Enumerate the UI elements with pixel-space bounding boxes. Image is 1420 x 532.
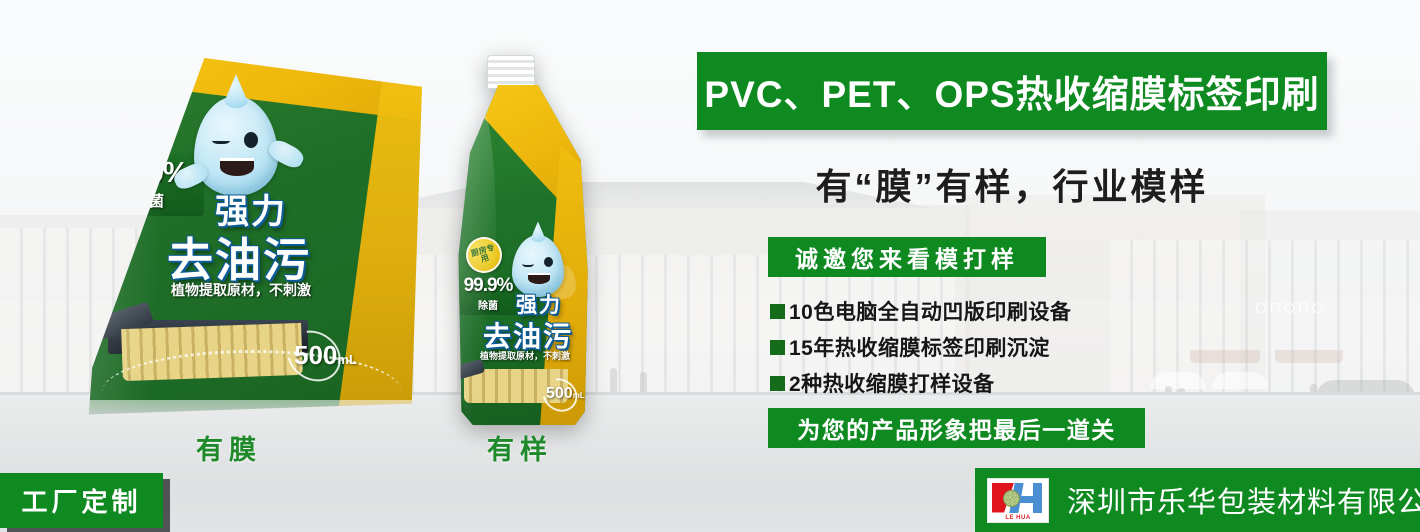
company-name: 深圳市乐华包装材料有限公司	[1067, 479, 1420, 521]
feature-list: 10色电脑全自动凹版印刷设备 15年热收缩膜标签印刷沉淀 2种热收缩膜打样设备	[770, 296, 1190, 404]
mascot-water-droplet	[194, 96, 278, 196]
logo-blue-crossbar	[1017, 496, 1041, 503]
bottle-gloss-highlight	[456, 105, 496, 425]
product-bottle: 厨房专用 99.9% 除菌 强力 去油污 植物提取原材，不刺激 500mL	[440, 55, 610, 425]
invite-banner: 诚邀您来看模打样	[768, 237, 1046, 277]
factory-custom-badge: 工厂定制	[0, 473, 163, 528]
headline-text: PVC、PET、OPS热收缩膜标签印刷	[704, 64, 1319, 118]
factory-custom-label: 工厂定制	[21, 482, 141, 519]
company-logo-icon: LE HUA	[987, 478, 1049, 523]
square-bullet-icon	[770, 376, 785, 391]
square-bullet-icon	[770, 340, 785, 355]
feature-label: 2种热收缩膜打样设备	[789, 368, 995, 398]
list-item: 10色电脑全自动凹版印刷设备	[770, 296, 1190, 326]
mascot-eye-wink	[212, 136, 230, 144]
mascot-eye-wink	[522, 259, 534, 267]
caption-bottle: 有样	[487, 428, 553, 467]
list-item: 2种热收缩膜打样设备	[770, 368, 1190, 398]
closing-banner: 为您的产品形象把最后一道关	[768, 408, 1145, 448]
list-item: 15年热收缩膜标签印刷沉淀	[770, 332, 1190, 362]
invite-text: 诚邀您来看模打样	[795, 240, 1019, 274]
mascot-eye	[244, 132, 258, 148]
square-bullet-icon	[770, 304, 785, 319]
bottle-body: 厨房专用 99.9% 除菌 强力 去油污 植物提取原材，不刺激 500mL	[450, 85, 592, 425]
logo-globe-icon	[1003, 490, 1020, 507]
headline-banner: PVC、PET、OPS热收缩膜标签印刷	[697, 52, 1327, 130]
closing-text: 为您的产品形象把最后一道关	[797, 411, 1116, 445]
company-bar: LE HUA 深圳市乐华包装材料有限公司	[975, 468, 1420, 532]
mascot-eye	[544, 257, 553, 267]
bottle-neck-thread	[487, 55, 535, 89]
feature-label: 15年热收缩膜标签印刷沉淀	[789, 332, 1050, 362]
logo-caption: LE HUA	[988, 515, 1048, 521]
mascot-mouth	[528, 273, 550, 284]
promo-banner: ΟΠΟΠΟ 厨房专用 99.9% 除菌 强力 去油污 植物提取原材，不刺激	[0, 0, 1420, 532]
mascot-mouth	[220, 158, 254, 176]
caption-pouch: 有膜	[196, 428, 262, 467]
feature-label: 10色电脑全自动凹版印刷设备	[789, 296, 1071, 326]
subheadline-text: 有“膜”有样，行业模样	[697, 158, 1327, 210]
